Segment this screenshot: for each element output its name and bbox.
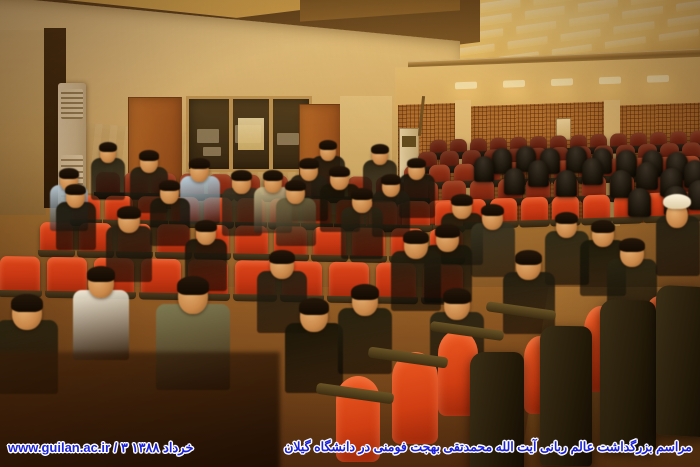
booth-window-mullion — [269, 99, 273, 169]
caption-bar: www.guilan.ac.ir / ۳ خرداد ۱۳۸۸ مراسم بز… — [0, 427, 700, 467]
downlight — [599, 77, 621, 85]
person-hair — [117, 206, 141, 219]
person-hair — [139, 150, 159, 161]
booth-equipment — [203, 147, 221, 156]
person-torso — [285, 323, 343, 393]
booth-equipment — [277, 133, 299, 145]
person-torso — [391, 251, 441, 311]
person-torso — [73, 290, 129, 360]
downlight — [647, 75, 669, 83]
audience-member-chador — [628, 188, 651, 217]
person-hair — [351, 284, 379, 300]
left-wall-pier — [0, 30, 46, 215]
ceiling-light-panel — [480, 0, 521, 13]
auditorium-seat — [0, 256, 40, 294]
ac-grille-upper — [61, 89, 83, 119]
person-hair — [329, 166, 350, 177]
person-hair — [189, 158, 210, 169]
person-torso — [338, 308, 392, 374]
audience-member-chador — [504, 168, 525, 195]
ceremony-photograph: www.guilan.ac.ir / ۳ خرداد ۱۳۸۸ مراسم بز… — [0, 0, 700, 467]
person-hair — [403, 230, 429, 244]
person-torso — [503, 272, 555, 334]
kiosk-screen — [402, 136, 416, 147]
person-hair — [11, 294, 43, 312]
person-hair — [435, 224, 460, 238]
person-hair — [443, 288, 471, 304]
person-hair — [299, 158, 319, 169]
person-hair — [269, 250, 295, 264]
person-hair — [59, 168, 79, 179]
person-hair — [451, 194, 473, 206]
booth-window-mullion — [229, 99, 233, 169]
person-hair — [591, 220, 615, 233]
person-torso — [276, 198, 316, 246]
audience-member-chador — [556, 170, 577, 197]
person-hair — [319, 140, 337, 150]
auditorium-seat — [521, 197, 548, 224]
person-hair — [159, 180, 180, 191]
person-hair — [65, 184, 86, 195]
person-torso — [150, 198, 190, 246]
turban — [663, 194, 691, 209]
person-hair — [195, 220, 217, 232]
audience-member-chador — [582, 158, 603, 185]
person-hair — [619, 238, 645, 252]
foreground-seat-back — [656, 285, 700, 438]
caption-left-url-date: www.guilan.ac.ir / ۳ خرداد ۱۳۸۸ — [8, 441, 193, 454]
person-torso — [56, 202, 96, 250]
person-hair — [381, 174, 401, 185]
person-hair — [177, 276, 209, 295]
lit-doorway — [238, 118, 264, 150]
person-hair — [99, 142, 117, 152]
person-hair — [515, 250, 542, 265]
person-torso — [341, 207, 383, 259]
downlight — [455, 82, 477, 90]
ceiling-light-panel — [676, 0, 700, 12]
person-hair — [87, 266, 115, 282]
audience-member-chador — [636, 162, 658, 190]
downlight — [503, 80, 525, 88]
person-hair — [231, 170, 252, 181]
person-torso — [91, 158, 125, 200]
audience-member-chador — [528, 160, 549, 187]
booth-equipment — [197, 129, 219, 143]
person-torso — [471, 223, 515, 277]
audience-member-chador — [474, 156, 494, 182]
person-hair — [555, 212, 578, 224]
ceiling-light-panel — [578, 0, 619, 13]
person-hair — [263, 170, 283, 181]
person-hair — [299, 298, 329, 315]
downlight — [551, 78, 573, 86]
person-hair — [407, 158, 426, 168]
person-hair — [351, 188, 373, 200]
auditorium-seat — [47, 257, 87, 295]
caption-right-title: مراسم بزرگداشت عالم ربانی آیت الله محمدت… — [284, 441, 692, 454]
auditorium-seat — [583, 194, 610, 221]
person-hair — [481, 204, 504, 216]
person-hair — [285, 180, 306, 191]
person-hair — [371, 144, 389, 154]
